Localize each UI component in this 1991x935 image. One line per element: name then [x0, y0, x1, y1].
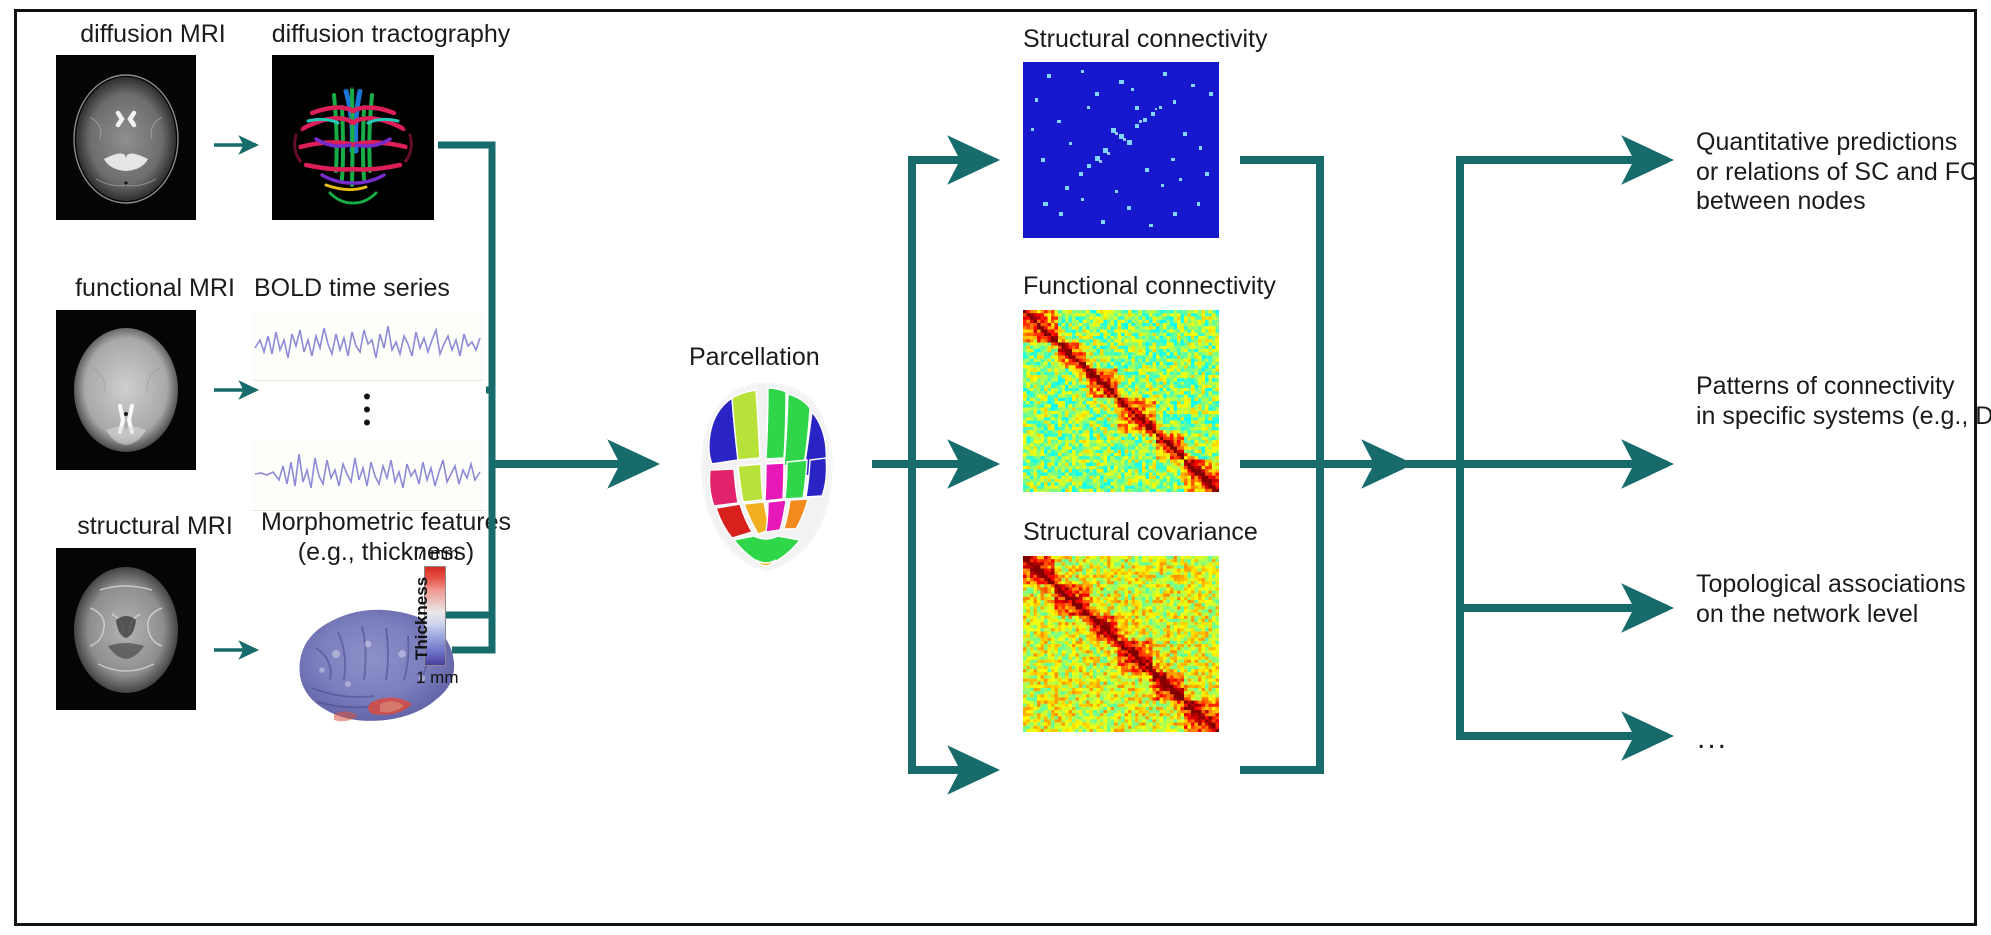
structural-covariance-matrix: [1023, 556, 1219, 732]
output-text-3: Topological associations on the network …: [1696, 570, 1966, 629]
bold-trace-top: [253, 310, 483, 381]
bold-trace-bottom: [253, 440, 483, 511]
label-parcellation: Parcellation: [689, 343, 820, 373]
output-text-1: Quantitative predictions or relations of…: [1696, 128, 1978, 217]
figure-canvas: diffusion MRI diffusion tractography: [0, 0, 1991, 935]
output-text-4: ...: [1697, 722, 1728, 756]
label-diffusion-tractography: diffusion tractography: [246, 20, 536, 50]
bold-series-ellipsis: •••: [362, 390, 372, 429]
cortical-thickness-surface: [276, 592, 476, 742]
functional-connectivity-matrix: [1023, 310, 1219, 492]
diffusion-mri-image: [56, 55, 196, 220]
parcellation-brain: [672, 378, 862, 578]
diffusion-tractography-image: [272, 55, 434, 220]
colorbar-min-label: 1 mm: [416, 668, 459, 688]
label-morphometric-features: Morphometric features (e.g., thickness): [236, 508, 536, 567]
colorbar-max-label: 7 mm: [416, 544, 459, 564]
output-text-2: Patterns of connectivity in specific sys…: [1696, 372, 1991, 431]
label-diffusion-mri: diffusion MRI: [48, 20, 258, 50]
functional-mri-image: [56, 310, 196, 470]
label-structural-covariance: Structural covariance: [1023, 518, 1258, 548]
structural-connectivity-matrix: [1023, 62, 1219, 238]
structural-mri-image: [56, 548, 196, 710]
label-structural-connectivity: Structural connectivity: [1023, 25, 1268, 55]
colorbar-title: Thickness: [412, 577, 432, 660]
label-functional-connectivity: Functional connectivity: [1023, 272, 1276, 302]
label-functional-mri: functional MRI: [40, 274, 270, 304]
label-bold-time-series: BOLD time series: [254, 274, 450, 304]
label-structural-mri: structural MRI: [42, 512, 268, 542]
